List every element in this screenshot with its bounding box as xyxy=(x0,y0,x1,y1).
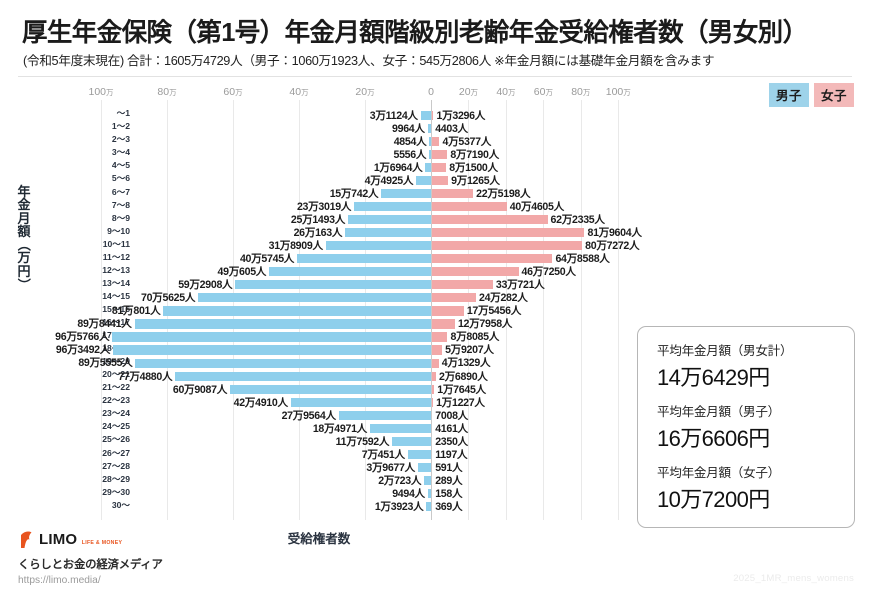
chart-row: 15～1681万801人17万5456人 xyxy=(68,305,637,318)
bar-male xyxy=(421,111,431,120)
bar-female xyxy=(431,241,582,250)
limo-flame-icon xyxy=(18,530,35,549)
bar-male xyxy=(326,241,431,250)
bar-female xyxy=(431,345,442,354)
category-label: 21～22 xyxy=(74,381,130,393)
chart-row: 21～2260万9087人1万7645人 xyxy=(68,383,637,396)
bar-female xyxy=(431,359,439,368)
chart-row: 9～1026万163人81万9604人 xyxy=(68,226,637,239)
bar-male xyxy=(424,476,431,485)
value-label-female: 369人 xyxy=(435,499,462,514)
chart-row: 10～1131万8909人80万7272人 xyxy=(68,240,637,253)
bar-male xyxy=(230,385,431,394)
chart-center-axis xyxy=(431,100,432,520)
x-axis-tick-10: 100万 xyxy=(606,86,631,98)
bar-male xyxy=(418,463,431,472)
category-label: 29～30 xyxy=(74,486,130,498)
chart-row: 1～29964人4403人 xyxy=(68,122,637,135)
footer-tagline: くらしとお金の経済メディア xyxy=(18,556,163,572)
category-label: 26～27 xyxy=(74,447,130,459)
category-label: 4～5 xyxy=(74,159,130,171)
legend-item-male: 男子 xyxy=(769,83,809,107)
stat-value-0: 14万6429円 xyxy=(657,360,854,392)
chart-row: 29～309494人158人 xyxy=(68,487,637,500)
x-axis-tick-3: 40万 xyxy=(289,86,308,98)
bar-male xyxy=(135,319,431,328)
stat-value-2: 10万7200円 xyxy=(657,482,854,514)
category-label: 24～25 xyxy=(74,420,130,432)
category-label: 3～4 xyxy=(74,146,130,158)
bar-male xyxy=(291,398,431,407)
bar-female xyxy=(431,163,446,172)
x-axis-tick-6: 20万 xyxy=(459,86,478,98)
category-label: 9～10 xyxy=(74,225,130,237)
category-label: 5～6 xyxy=(74,172,130,184)
x-axis-tick-1: 80万 xyxy=(157,86,176,98)
limo-logo-text: LIMO LIFE & MONEY xyxy=(39,532,122,548)
bar-male xyxy=(339,411,431,420)
bar-male xyxy=(348,215,431,224)
bar-male xyxy=(198,293,431,302)
y-axis-title: 年 金 月 額 （ 万 円 ） xyxy=(14,185,34,291)
chart-row: 16～1789万8441人12万7958人 xyxy=(68,318,637,331)
bar-male xyxy=(354,202,431,211)
bar-male xyxy=(297,254,431,263)
legend-item-female: 女子 xyxy=(814,83,854,107)
bar-male xyxy=(175,372,431,381)
watermark: 2025_1MR_mens_womens xyxy=(733,573,854,584)
y-axis-title-c2: 月 xyxy=(14,212,34,225)
y-axis-title-c7: ） xyxy=(17,274,30,294)
x-axis-tick-9: 80万 xyxy=(571,86,590,98)
chart-page: 厚生年金保険（第1号）年金月額階級別老齢年金受給権者数（男女別） (令和5年度末… xyxy=(0,0,870,594)
limo-logo: LIMO LIFE & MONEY xyxy=(18,530,163,549)
x-axis-tick-0: 100万 xyxy=(88,86,113,98)
x-axis-tick-2: 60万 xyxy=(223,86,242,98)
chart-row: 4～51万6964人8万1500人 xyxy=(68,161,637,174)
chart-row: 18～1996万3492人5万9207人 xyxy=(68,344,637,357)
category-label: 28～29 xyxy=(74,473,130,485)
bar-male xyxy=(163,306,431,315)
chart-legend: 男子 女子 xyxy=(769,83,854,107)
bar-female xyxy=(431,189,473,198)
bar-female xyxy=(431,176,448,185)
stat-label-1: 平均年金月額（男子） xyxy=(657,401,854,420)
chart-row: 8～925万1493人62万2335人 xyxy=(68,213,637,226)
bar-male xyxy=(392,437,431,446)
chart-row: 12～1349万605人46万7250人 xyxy=(68,266,637,279)
stat-label-0: 平均年金月額（男女計） xyxy=(657,340,854,359)
bar-female xyxy=(431,202,507,211)
bar-female xyxy=(431,306,464,315)
value-label-male: 1万3923人 xyxy=(375,499,424,514)
bar-male xyxy=(416,176,431,185)
category-label: 14～15 xyxy=(74,290,130,302)
page-subtitle: (令和5年度末現在) 合計：1605万4729人（男子：1060万1923人、女… xyxy=(23,50,855,69)
bar-female xyxy=(431,280,493,289)
bar-male xyxy=(113,345,431,354)
category-label: 13～14 xyxy=(74,277,130,289)
bar-female xyxy=(431,137,439,146)
chart-row: 27～283万9677人591人 xyxy=(68,461,637,474)
y-axis-title-c0: 年 xyxy=(14,185,34,198)
chart-row: 30～1万3923人369人 xyxy=(68,501,637,514)
chart-row: 26～277万451人1197人 xyxy=(68,448,637,461)
value-label-male: 42万4910人 xyxy=(234,395,288,410)
y-axis-title-c4: （ xyxy=(17,235,30,255)
stat-value-1: 16万6606円 xyxy=(657,421,854,453)
category-label: 12～13 xyxy=(74,264,130,276)
header-divider xyxy=(18,76,852,77)
stat-label-2: 平均年金月額（女子） xyxy=(657,462,854,481)
bar-male xyxy=(135,359,431,368)
bar-female xyxy=(431,150,447,159)
chart-row: ～13万1124人1万3296人 xyxy=(68,109,637,122)
chart-row: 20～2177万4880人2万6890人 xyxy=(68,370,637,383)
chart-rows: ～13万1124人1万3296人1～29964人4403人2～34854人4万5… xyxy=(68,100,637,520)
average-pension-summary-box: 平均年金月額（男女計）14万6429円平均年金月額（男子）16万6606円平均年… xyxy=(637,326,855,528)
bar-female xyxy=(431,228,584,237)
category-label: 10～11 xyxy=(74,238,130,250)
limo-logo-name: LIMO xyxy=(39,531,77,548)
chart-row: 22～2342万4910人1万1227人 xyxy=(68,396,637,409)
bar-male xyxy=(269,267,431,276)
category-label: 11～12 xyxy=(74,251,130,263)
bar-female xyxy=(431,254,552,263)
page-title: 厚生年金保険（第1号）年金月額階級別老齢年金受給権者数（男女別） xyxy=(22,12,852,49)
x-axis-tick-7: 40万 xyxy=(496,86,515,98)
bar-female xyxy=(431,319,455,328)
category-label: 1～2 xyxy=(74,120,130,132)
category-label: ～1 xyxy=(74,107,130,119)
chart-row: 25～2611万7592人2350人 xyxy=(68,435,637,448)
chart-row: 2～34854人4万5377人 xyxy=(68,135,637,148)
bar-female xyxy=(431,293,476,302)
bar-male xyxy=(381,189,431,198)
chart-row: 3～45556人8万7190人 xyxy=(68,148,637,161)
category-label: 2～3 xyxy=(74,133,130,145)
category-label: 8～9 xyxy=(74,212,130,224)
chart-row: 17～1896万5766人8万8085人 xyxy=(68,331,637,344)
x-axis-tick-8: 60万 xyxy=(534,86,553,98)
category-label: 7～8 xyxy=(74,199,130,211)
category-label: 6～7 xyxy=(74,186,130,198)
bar-male xyxy=(112,332,431,341)
chart-row: 28～292万723人289人 xyxy=(68,474,637,487)
bar-female xyxy=(431,332,447,341)
category-label: 25～26 xyxy=(74,433,130,445)
category-label: 27～28 xyxy=(74,460,130,472)
x-axis-tick-4: 20万 xyxy=(355,86,374,98)
pyramid-chart: 100万80万60万40万20万020万40万60万80万100万 ～13万11… xyxy=(68,100,637,520)
category-label: 22～23 xyxy=(74,394,130,406)
category-label: 23～24 xyxy=(74,407,130,419)
x-axis-tick-labels: 100万80万60万40万20万020万40万60万80万100万 xyxy=(68,86,637,100)
bar-male xyxy=(370,424,431,433)
category-label: 30～ xyxy=(74,499,130,511)
y-axis-title-c1: 金 xyxy=(14,198,34,211)
x-axis-tick-5: 0 xyxy=(428,86,434,98)
value-label-male: 60万9087人 xyxy=(173,382,227,397)
bar-male xyxy=(345,228,431,237)
bar-male xyxy=(408,450,431,459)
footer: LIMO LIFE & MONEY くらしとお金の経済メディア https://… xyxy=(18,530,163,586)
bar-female xyxy=(431,215,548,224)
limo-logo-tagline: LIFE & MONEY xyxy=(82,540,123,546)
bar-male xyxy=(235,280,431,289)
bar-female xyxy=(431,267,519,276)
footer-url[interactable]: https://limo.media/ xyxy=(18,575,163,586)
